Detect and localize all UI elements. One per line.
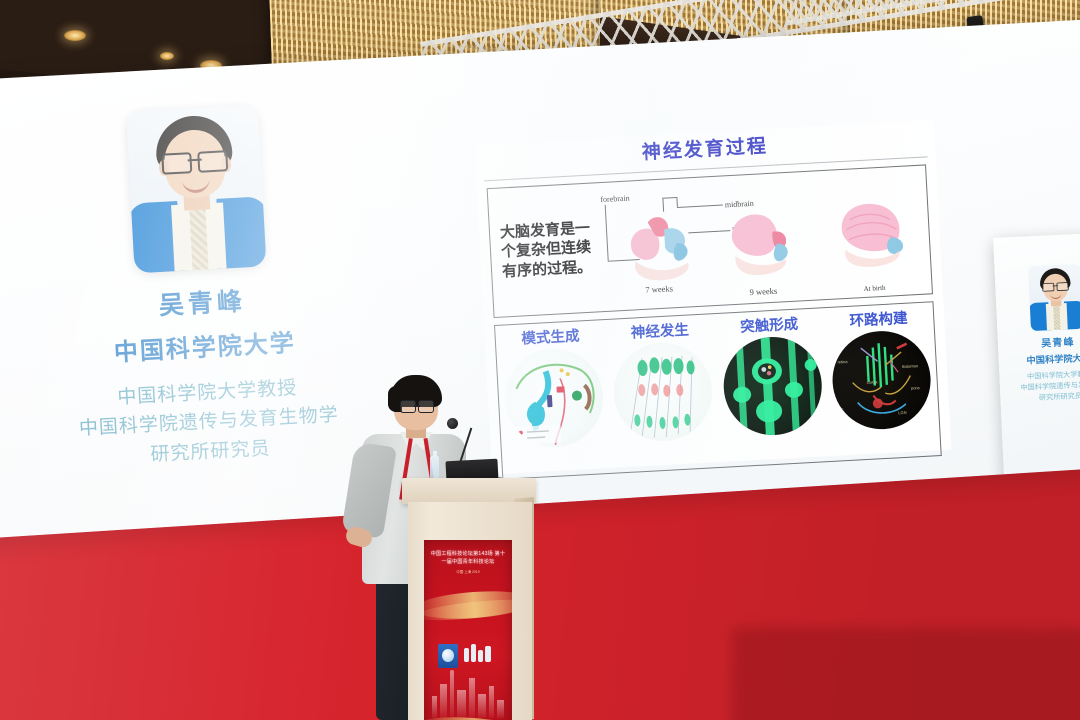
stage-image-synaptogenesis xyxy=(721,334,824,437)
banner-date: 中国·上海 2019 xyxy=(430,570,506,575)
brain-development-panel: 大脑发育是一个复杂但连续有序的过程。 forebrain midbrain hi… xyxy=(487,164,933,318)
lectern-body: 中国工程科技论坛第143场 第十一届中国青年科技论坛 中国·上海 2019 xyxy=(408,502,532,720)
speaker-organization: 中国科学院大学 xyxy=(39,319,370,372)
secondary-speaker-portrait xyxy=(1028,264,1080,331)
svg-text:retina: retina xyxy=(838,359,849,365)
stage-label: 环路构建 xyxy=(826,305,931,332)
svg-text:LGN: LGN xyxy=(898,410,907,415)
development-stages-panel: 模式生成 xyxy=(494,301,942,480)
brain-atbirth-illustration xyxy=(833,194,917,272)
conference-stage-photo: 吴青峰 中国科学院大学 中国科学院大学教授 中国科学院遗传与发育生物学 研究所研… xyxy=(0,0,1080,720)
brain-stage-9weeks: 9 weeks xyxy=(749,286,777,297)
eyeglasses-icon xyxy=(400,400,434,411)
brain-9weeks-illustration xyxy=(725,204,801,278)
lectern-banner: 中国工程科技论坛第143场 第十一届中国青年科技论坛 中国·上海 2019 xyxy=(424,540,512,720)
stage-item-synaptogenesis: 突触形成 xyxy=(717,311,827,437)
brain-stage-7weeks: 7 weeks xyxy=(645,283,673,294)
svg-text:thalamus: thalamus xyxy=(902,363,918,369)
speaker-intro-card: 吴青峰 中国科学院大学 中国科学院大学教授 中国科学院遗传与发育生物学 研究所研… xyxy=(27,99,376,476)
brain-label-forebrain: forebrain xyxy=(600,194,630,205)
presentation-slide: 神经发育过程 大脑发育是一个复杂但连续有序的过程。 forebrain midb… xyxy=(474,120,951,474)
stage-item-pattern-formation: 模式生成 xyxy=(498,323,608,449)
lectern: 中国工程科技论坛第143场 第十一届中国青年科技论坛 中国·上海 2019 xyxy=(406,478,532,720)
secondary-speaker-name: 吴青峰 xyxy=(998,332,1080,352)
skyline-silhouette-icon xyxy=(424,656,512,718)
stage-image-circuit-assembly: retinathalamus cortexSC LGNpons xyxy=(830,329,933,432)
slide-intro-text: 大脑发育是一个复杂但连续有序的过程。 xyxy=(490,219,599,282)
eyeglasses-icon xyxy=(161,150,228,171)
stage-item-circuit-assembly: 环路构建 xyxy=(826,305,936,431)
secondary-speaker-organization: 中国科学院大学 xyxy=(998,349,1080,368)
downlight-icon xyxy=(160,52,174,60)
downlight-icon xyxy=(64,30,86,41)
stage-label: 模式生成 xyxy=(498,323,603,350)
stage-image-neurogenesis xyxy=(612,340,715,443)
stage-label: 突触形成 xyxy=(717,311,822,338)
stage-label: 神经发生 xyxy=(607,317,712,344)
brain-7weeks-illustration xyxy=(623,208,705,286)
water-bottle xyxy=(430,456,439,480)
carpet-shadow xyxy=(731,627,1080,720)
microphone-icon xyxy=(447,418,458,429)
svg-text:SC: SC xyxy=(838,407,844,412)
svg-text:pons: pons xyxy=(911,385,920,390)
stage-image-pattern-formation xyxy=(502,346,605,449)
speaker-portrait xyxy=(126,104,267,273)
brain-stage-atbirth: At birth xyxy=(863,284,885,293)
eyeglasses-icon xyxy=(1042,282,1069,290)
banner-title: 中国工程科技论坛第143场 第十一届中国青年科技论坛 xyxy=(430,550,506,567)
brain-stage-diagram: forebrain midbrain hindbrain xyxy=(596,166,928,311)
svg-text:cortex: cortex xyxy=(867,379,878,385)
stage-item-neurogenesis: 神经发生 xyxy=(607,317,717,443)
